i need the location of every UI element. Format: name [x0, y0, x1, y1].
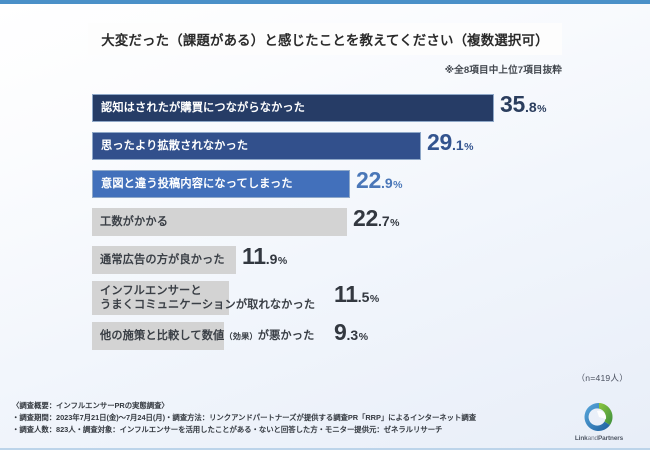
logo-brand-and: and	[588, 435, 598, 442]
value-whole: 29	[427, 129, 452, 156]
value-percent-sign: %	[359, 331, 368, 343]
value-fraction: .5	[358, 289, 370, 305]
company-logo: LinkandPartners	[562, 400, 636, 448]
bar-label-4: 工数がかかる	[92, 215, 168, 229]
value-percent-sign: %	[464, 141, 473, 153]
value-percent-sign: %	[393, 179, 402, 191]
bar-value-6: 11.5%	[334, 281, 379, 315]
bar-5: 通常広告の方が良かった	[92, 246, 236, 274]
value-percent-sign: %	[278, 255, 287, 267]
bar-value-7: 9.3%	[334, 319, 368, 353]
value-whole: 22	[356, 167, 381, 194]
logo-wordmark: LinkandPartners	[575, 435, 623, 442]
bar-value-5: 11.9%	[242, 243, 287, 277]
bar-label-3: 意図と違う投稿内容になってしまった	[93, 177, 293, 191]
bar-value-4: 22.7%	[353, 205, 400, 239]
bar-1: 認知はされたが購買につながらなかった	[92, 94, 494, 122]
chart-row: 思ったより拡散されなかった29.1%	[0, 128, 650, 166]
chart-row: 認知はされたが購買につながらなかった35.8%	[0, 90, 650, 128]
bar-4: 工数がかかる	[92, 208, 347, 236]
footer-line-overview: 〈調査概要：インフルエンサーPRの実態調査〉	[12, 400, 560, 412]
bar-value-2: 29.1%	[427, 129, 474, 163]
value-fraction: .1	[452, 137, 464, 153]
bar-7: 他の施策と比較して数値（効果）が悪かった	[92, 322, 224, 350]
page-title-text: 大変だった（課題がある）と感じたことを教えてください（複数選択可）	[101, 29, 548, 49]
value-percent-sign: %	[370, 293, 379, 305]
bar-value-1: 35.8%	[500, 91, 547, 125]
footer-line-respondents: ・調査人数：823人・調査対象：インフルエンサーを活用したことがある・ないと回答…	[12, 424, 560, 436]
bar-label-2: 思ったより拡散されなかった	[93, 139, 248, 153]
value-fraction: .8	[525, 99, 537, 115]
sample-size-label: （n=419人）	[576, 372, 628, 384]
value-fraction: .9	[381, 175, 393, 191]
value-whole: 9	[334, 319, 347, 346]
value-whole: 11	[242, 243, 266, 270]
logo-brand-link: Link	[575, 435, 588, 442]
bar-label-5: 通常広告の方が良かった	[92, 253, 225, 267]
logo-brand-partners: Partners	[598, 435, 623, 442]
footer-line-method: ・調査期間：2023年7月21日(金)～7月24日(月)・調査方法：リンクアンド…	[12, 412, 560, 424]
value-percent-sign: %	[390, 217, 399, 229]
chart-row: 他の施策と比較して数値（効果）が悪かった9.3%	[0, 318, 650, 356]
value-whole: 11	[334, 281, 358, 308]
bar-3: 意図と違う投稿内容になってしまった	[92, 170, 350, 198]
bar-label-1: 認知はされたが購買につながらなかった	[93, 101, 305, 115]
chart-row: 工数がかかる22.7%	[0, 204, 650, 242]
bar-label-7: 他の施策と比較して数値（効果）が悪かった	[92, 329, 314, 343]
value-fraction: .3	[347, 327, 359, 343]
value-whole: 35	[500, 91, 525, 118]
bar-chart: 認知はされたが購買につながらなかった35.8%思ったより拡散されなかった29.1…	[0, 90, 650, 356]
chart-row: インフルエンサーとうまくコミュニケーションが取れなかった11.5%	[0, 280, 650, 318]
page-title: 大変だった（課題がある）と感じたことを教えてください（複数選択可）	[88, 23, 562, 55]
bar-value-3: 22.9%	[356, 167, 403, 201]
excerpt-note: ※全8項目中上位7項目抜粋	[445, 62, 562, 76]
chart-row: 意図と違う投稿内容になってしまった22.9%	[0, 166, 650, 204]
bar-label-6: インフルエンサーとうまくコミュニケーションが取れなかった	[92, 284, 315, 313]
bar-2: 思ったより拡散されなかった	[92, 132, 421, 160]
value-fraction: .9	[266, 251, 278, 267]
value-fraction: .7	[378, 213, 390, 229]
chart-row: 通常広告の方が良かった11.9%	[0, 242, 650, 280]
slide-canvas: 大変だった（課題がある）と感じたことを教えてください（複数選択可） ※全8項目中…	[0, 0, 650, 450]
bar-6: インフルエンサーとうまくコミュニケーションが取れなかった	[92, 281, 229, 315]
value-whole: 22	[353, 205, 378, 232]
link-and-partners-swoosh-icon	[582, 400, 616, 434]
survey-overview-footer: 〈調査概要：インフルエンサーPRの実態調査〉 ・調査期間：2023年7月21日(…	[12, 400, 560, 436]
value-percent-sign: %	[537, 103, 546, 115]
